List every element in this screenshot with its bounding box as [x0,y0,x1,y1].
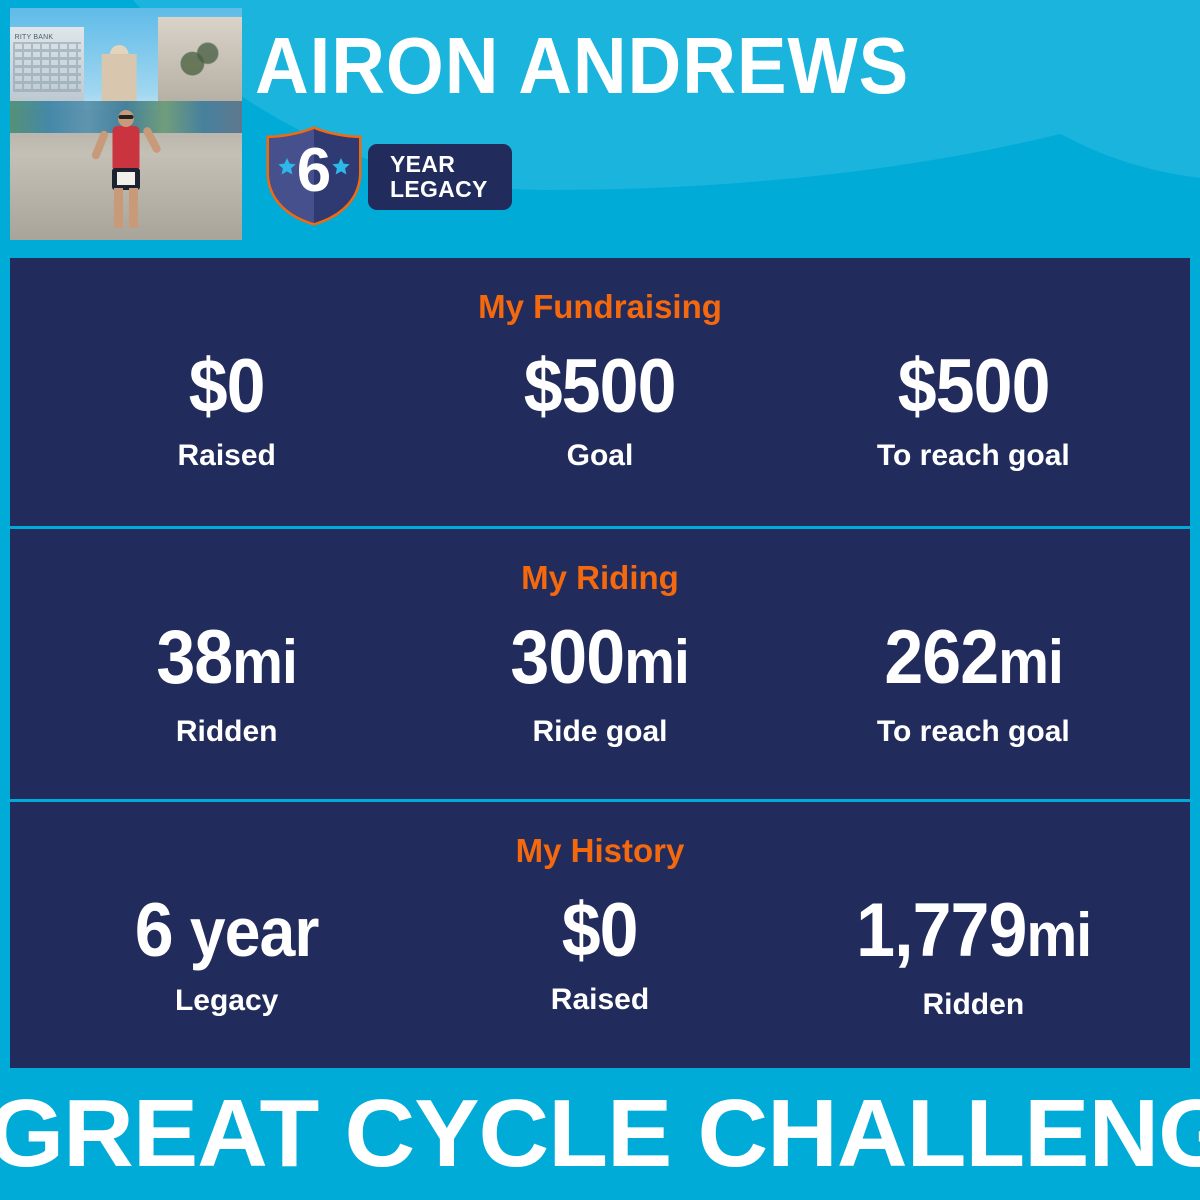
stats-panel: My Fundraising $0 Raised $500 Goal $500 … [10,258,1190,1068]
section-my-fundraising: My Fundraising $0 Raised $500 Goal $500 … [10,258,1190,526]
stat-value-to-reach-goal-riding: 262mi [802,616,1145,705]
stat-label-goal: Goal [413,439,786,473]
stat-value-history-raised: $0 [428,889,771,973]
stat-label-raised: Raised [40,439,413,473]
stat-number-history-ridden: 1,779 [856,888,1026,973]
stat-label-to-reach-goal-fundraising: To reach goal [787,439,1160,473]
stat-value-history-ridden: 1,779mi [802,889,1145,978]
legacy-badge-line2: LEGACY [390,177,488,202]
stat-raised: $0 Raised [40,345,413,473]
stat-goal: $500 Goal [413,345,786,473]
page-header: RITY BANK Airon Andrews YEAR LEGACY [0,0,1200,258]
section-my-riding: My Riding 38mi Ridden 300mi Ride goal 26… [10,529,1190,799]
section-my-history: My History 6 year Legacy $0 Raised 1,779… [10,802,1190,1074]
stat-label-legacy: Legacy [40,984,413,1018]
photo-tree [172,36,223,106]
stat-ride-goal: 300mi Ride goal [413,616,786,749]
stat-value-ridden: 38mi [55,616,398,705]
stat-number-ridden: 38 [156,615,232,700]
brand-wordmark: Great Cycle Challenge [0,1084,1200,1184]
stat-word-legacy: year [173,893,319,971]
legacy-badge-plate: YEAR LEGACY [368,144,512,210]
legacy-badge-line1: YEAR [390,152,488,177]
photo-participant-figure [103,110,149,232]
photo-figure-race-bib [117,172,135,185]
stat-label-to-reach-goal-riding: To reach goal [787,715,1160,749]
stat-to-reach-goal-riding: 262mi To reach goal [787,616,1160,749]
stat-ridden: 38mi Ridden [40,616,413,749]
participant-photo: RITY BANK [10,8,242,240]
shield-icon: 6 [262,126,366,226]
photo-figure-leg-right [129,188,138,228]
legacy-badge-plate-text: YEAR LEGACY [390,152,488,202]
section-title-my-history: My History [10,802,1190,867]
stat-number-ride-goal: 300 [511,615,625,700]
stat-label-ride-goal: Ride goal [413,715,786,749]
stat-value-goal: $500 [428,345,771,429]
stat-label-history-raised: Raised [413,983,786,1017]
stat-group-my-history: 6 year Legacy $0 Raised 1,779mi Ridden [10,889,1190,1022]
stat-number-legacy: 6 [135,888,173,973]
stat-label-ridden: Ridden [40,715,413,749]
stat-to-reach-goal-fundraising: $500 To reach goal [787,345,1160,473]
page-title: Airon Andrews [255,22,1092,110]
stat-value-ride-goal: 300mi [428,616,771,705]
stat-value-raised: $0 [55,345,398,429]
page-footer: Great Cycle Challenge [0,1068,1200,1200]
legacy-badge: YEAR LEGACY 6 [262,126,512,226]
legacy-years-value: 6 [262,140,366,202]
stat-group-my-riding: 38mi Ridden 300mi Ride goal 262mi To rea… [10,616,1190,749]
photo-figure-torso [113,126,140,170]
stat-history-raised: $0 Raised [413,889,786,1022]
sunglasses-icon [119,115,134,119]
stat-value-legacy: 6 year [55,889,398,974]
stat-unit-ridden: mi [232,628,297,697]
stat-history-ridden: 1,779mi Ridden [787,889,1160,1022]
stat-value-to-reach-goal-fundraising: $500 [802,345,1145,429]
stat-unit-history-ridden: mi [1026,901,1091,970]
stat-group-my-fundraising: $0 Raised $500 Goal $500 To reach goal [10,345,1190,473]
section-title-my-riding: My Riding [10,529,1190,594]
stat-unit-to-reach-goal-riding: mi [998,628,1063,697]
stat-legacy: 6 year Legacy [40,889,413,1022]
photo-bank-sign-text: RITY BANK [15,34,54,41]
stat-unit-ride-goal: mi [625,628,690,697]
photo-figure-leg-left [114,188,123,228]
stat-number-to-reach-goal-riding: 262 [884,615,998,700]
section-title-my-fundraising: My Fundraising [10,258,1190,323]
stat-label-history-ridden: Ridden [787,988,1160,1022]
